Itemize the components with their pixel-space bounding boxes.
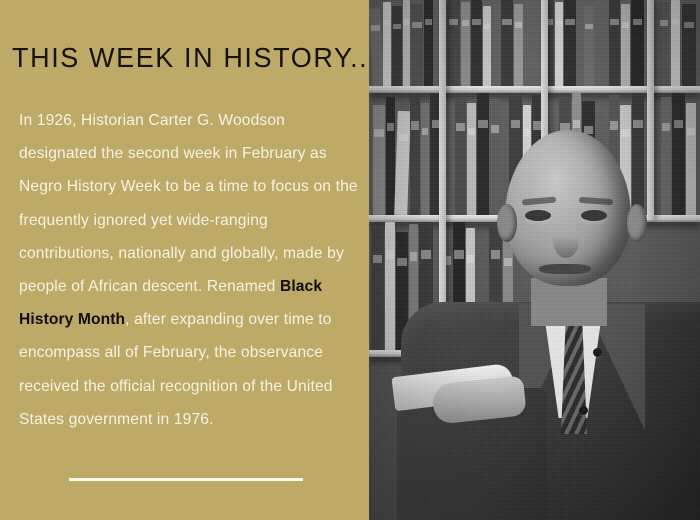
book-spine [394, 111, 411, 215]
book-spine [385, 222, 395, 350]
body-paragraph: In 1926, Historian Carter G. Woodson des… [19, 104, 359, 436]
book-spine [373, 105, 385, 215]
book-spine [447, 0, 460, 86]
subject-figure [427, 130, 700, 520]
book-spine [514, 4, 523, 86]
book-spine [682, 4, 696, 86]
gold-text-panel: THIS WEEK IN HISTORY... In 1926, Histori… [0, 0, 369, 520]
book-spine [621, 4, 630, 86]
this-week-in-history-poster: THIS WEEK IN HISTORY... In 1926, Histori… [0, 0, 700, 520]
ear-left [497, 204, 517, 242]
divider-rule [69, 478, 303, 481]
head [505, 130, 631, 286]
book-spine [584, 6, 594, 86]
body-segment-one: In 1926, Historian Carter G. Woodson des… [19, 112, 358, 295]
page-title: THIS WEEK IN HISTORY... [12, 42, 377, 73]
nose [553, 222, 579, 258]
book-spine [555, 2, 563, 86]
book-spine [392, 6, 402, 86]
book-spine [501, 0, 513, 86]
book-spine [424, 0, 433, 86]
book-spine [631, 0, 644, 86]
mouth [539, 264, 591, 274]
portrait-photograph [369, 0, 700, 520]
eye-left [525, 210, 551, 221]
book-spine [659, 2, 669, 86]
book-spine [410, 95, 420, 215]
book-spine [371, 228, 384, 350]
book-spine [403, 0, 410, 86]
body-segment-two: , after expanding over time to encompass… [19, 311, 333, 428]
book-spine [383, 2, 391, 86]
book-spine [369, 8, 384, 86]
eye-right [581, 210, 607, 221]
jacket-button [593, 348, 602, 357]
photo-content [369, 0, 700, 520]
book-spine [461, 2, 470, 86]
book-spine [471, 0, 482, 86]
book-spine [411, 4, 423, 86]
book-spine [483, 6, 491, 86]
book-spine [386, 97, 395, 215]
book-spine [564, 0, 576, 86]
book-spine [671, 0, 680, 86]
ear-right [627, 204, 647, 242]
jacket-button [579, 406, 588, 415]
book-spine [609, 0, 620, 86]
